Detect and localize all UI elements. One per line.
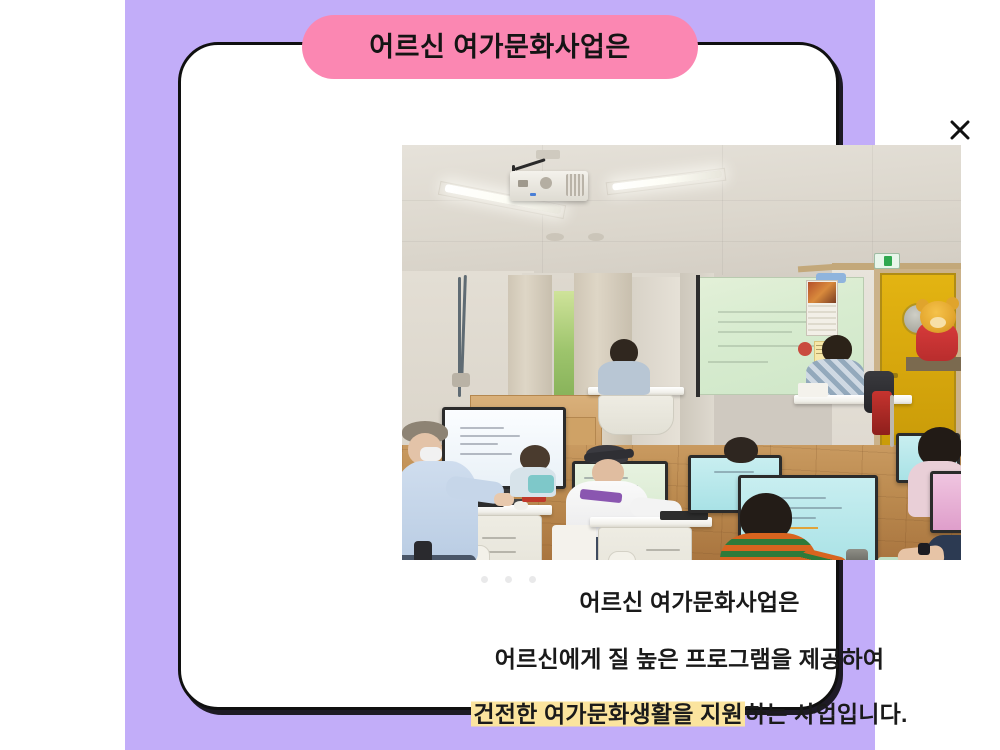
close-glyph — [948, 118, 972, 142]
screen-text-line — [718, 311, 810, 313]
close-icon[interactable] — [943, 113, 977, 147]
monitor — [930, 471, 961, 533]
wristwatch — [918, 543, 930, 555]
person-head — [724, 437, 758, 463]
desk-leg — [890, 395, 894, 447]
ceiling-speaker — [546, 233, 564, 241]
mouse — [514, 501, 528, 510]
person-body — [598, 361, 650, 395]
desk-slot — [482, 537, 516, 539]
highlighted-phrase: 건전한 여가문화생활을 지원 — [471, 700, 745, 728]
face-mask — [420, 447, 442, 461]
projector-port — [518, 180, 528, 187]
ceiling-line — [872, 145, 873, 271]
desk-item — [846, 549, 868, 560]
screen-text-line — [460, 427, 504, 429]
teddy-bear-snout — [930, 317, 946, 328]
program-photo[interactable] — [402, 145, 961, 560]
page-title: 어르신 여가문화사업은 — [369, 34, 630, 61]
ceiling-speaker — [588, 233, 604, 241]
calendar-photo — [808, 282, 836, 303]
desk-item — [878, 557, 900, 560]
title-banner: 어르신 여가문화사업은 — [302, 15, 698, 79]
red-bag — [872, 391, 892, 435]
scarf — [528, 475, 554, 493]
wall-ornament — [798, 342, 812, 356]
projector-led — [530, 193, 536, 196]
photo-scene — [402, 145, 961, 560]
info-card: 어르신 여가문화사업은 어르신에게 질 높은 프로그램을 제공하여 건전한 여가… — [178, 42, 839, 710]
ceiling-line — [402, 241, 961, 242]
carousel-dot-1[interactable] — [481, 576, 488, 583]
description-line-3-rest: 하는 사업입니다. — [745, 701, 908, 727]
screen-text-line — [708, 361, 768, 363]
projector-vent — [566, 174, 584, 196]
desk-cutout — [608, 551, 636, 560]
desk-slot — [646, 549, 680, 551]
calendar-grid — [808, 305, 836, 333]
paper-stack — [798, 383, 828, 397]
description-line-2: 어르신에게 질 높은 프로그램을 제공하여 — [371, 646, 1000, 674]
exit-glyph-icon — [884, 256, 892, 266]
screen-edge — [696, 275, 700, 397]
ceiling-line — [722, 145, 723, 275]
desk-panel — [598, 395, 674, 435]
screen-text-line — [714, 471, 754, 473]
description-line-1: 어르신 여가문화사업은 — [371, 589, 1000, 617]
carousel-dot-3[interactable] — [529, 576, 536, 583]
description-line-3: 건전한 여가문화생활을 지원하는 사업입니다. — [371, 701, 1000, 729]
carousel-dots — [181, 576, 836, 583]
screen-text-line — [460, 443, 498, 445]
carousel-dot-2[interactable] — [505, 576, 512, 583]
screen-text-line — [460, 435, 520, 437]
screen-root: 어르신 여가문화사업은 어르신에게 질 높은 프로그램을 제공하여 건전한 여가… — [0, 0, 1000, 750]
chair-cover — [552, 525, 596, 560]
chair-leg — [414, 541, 432, 560]
monitor-screen — [933, 474, 961, 530]
description-text: 어르신 여가문화사업은 어르신에게 질 높은 프로그램을 제공하여 건전한 여가… — [371, 589, 1000, 729]
projector-mount — [536, 150, 560, 159]
screen-text-line — [718, 331, 792, 333]
projector-lens — [540, 177, 552, 189]
wall-outlet — [452, 373, 470, 387]
screen-text-line — [460, 453, 512, 455]
